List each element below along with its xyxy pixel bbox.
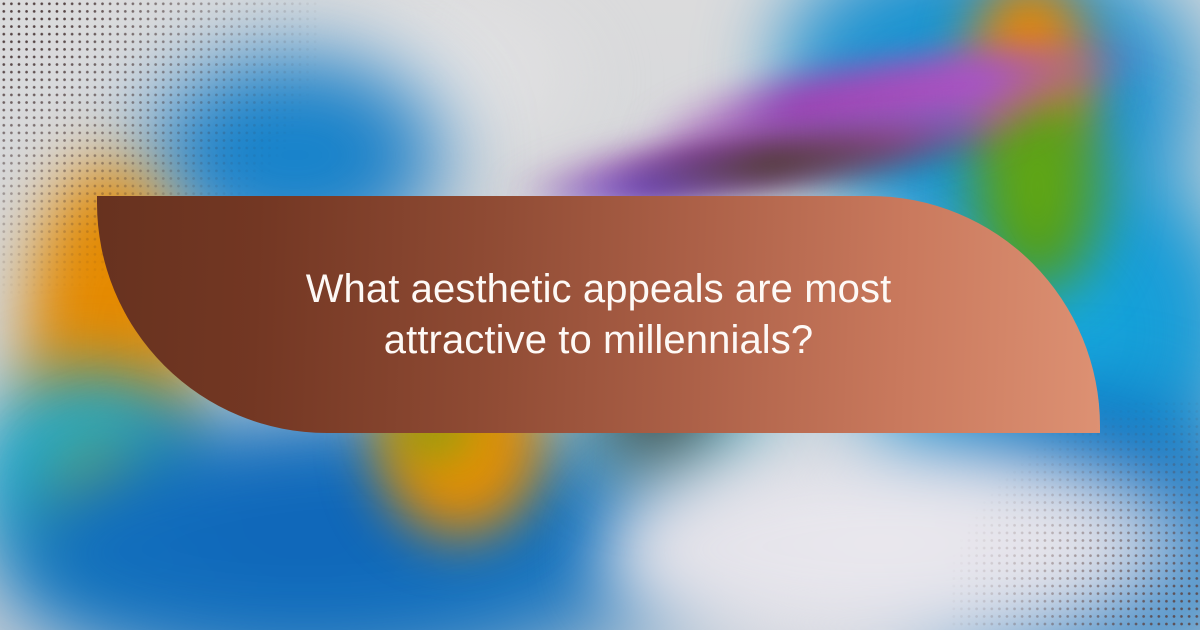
headline-line-2: attractive to millennials? <box>217 315 980 366</box>
headline-line-1: What aesthetic appeals are most <box>217 263 980 314</box>
headline: What aesthetic appeals are most attracti… <box>97 263 1100 365</box>
share-card: What aesthetic appeals are most attracti… <box>0 0 1200 630</box>
headline-banner: What aesthetic appeals are most attracti… <box>97 196 1100 433</box>
